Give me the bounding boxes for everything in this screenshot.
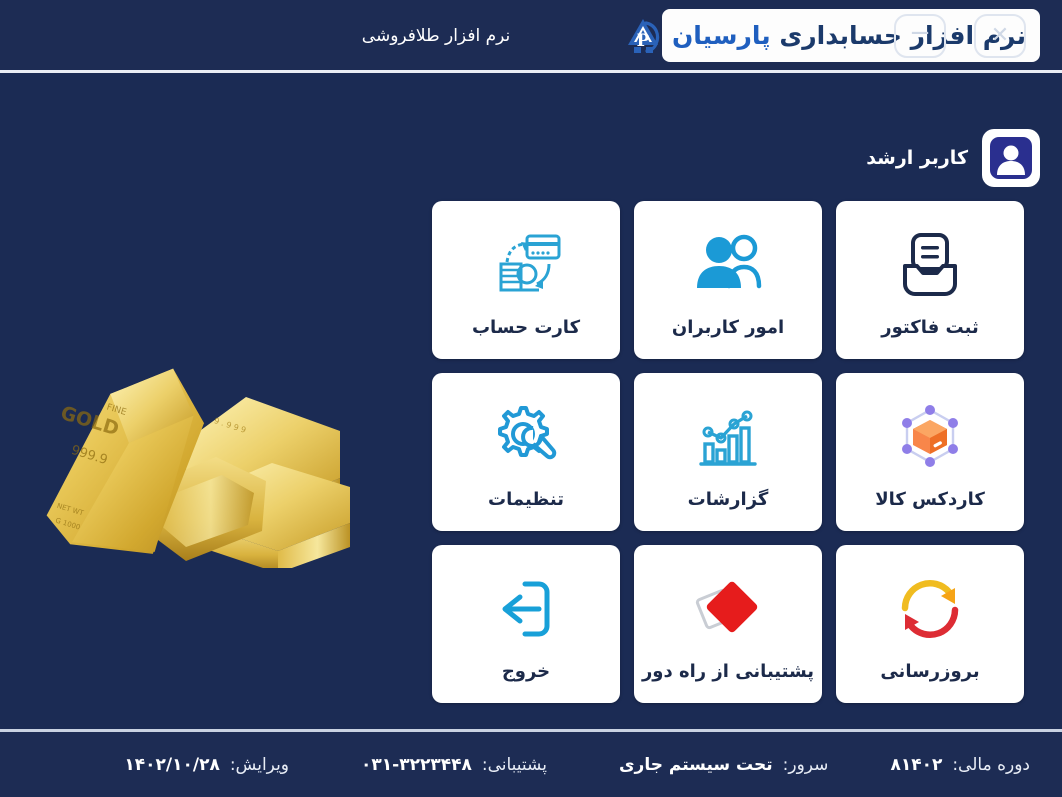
tile-label: گزارشات (688, 489, 769, 510)
tile-register-invoice[interactable]: ثبت فاکتور (836, 201, 1024, 359)
tile-label: بروزرسانی (880, 661, 979, 682)
tile-label: خروج (502, 661, 550, 682)
user-name: کاربر ارشد (866, 147, 968, 169)
tile-label: پشتیبانی از راه دور (642, 661, 814, 682)
close-button[interactable]: ✕ (974, 14, 1026, 58)
gold-bars-image: 9 9 9 . 9 FINE GOLD 999.9 NET WT 1000 G (10, 323, 350, 568)
anydesk-remote-icon (689, 567, 767, 651)
status-fiscal-period-value: ۸۱۴۰۲ (890, 755, 942, 775)
tile-label: تنظیمات (488, 489, 564, 510)
status-support: پشتیبانی: ۰۳۱-۳۲۲۳۴۴۸ (361, 755, 547, 775)
refresh-circular-arrows-icon (891, 567, 969, 651)
status-server-label: سرور: (783, 755, 829, 775)
status-version-value: ۱۴۰۲/۱۰/۲۸ (124, 755, 219, 775)
status-server: سرور: تحت سیستم جاری (619, 755, 828, 775)
main-stage: 9 9 9 . 9 FINE GOLD 999.9 NET WT 1000 G (0, 73, 1062, 730)
tile-label: کارت حساب (472, 317, 580, 338)
brand-logo-text: نرم افزار حسابداری پارسیان (672, 23, 1026, 48)
minimize-button[interactable]: − (894, 14, 946, 58)
user-chip[interactable]: کاربر ارشد (866, 129, 1040, 187)
tile-label: ثبت فاکتور (881, 317, 978, 338)
status-bar: دوره مالی: ۸۱۴۰۲ سرور: تحت سیستم جاری پش… (0, 732, 1062, 797)
tile-account-card[interactable]: کارت حساب (432, 201, 620, 359)
status-server-value: تحت سیستم جاری (619, 755, 773, 775)
tile-update[interactable]: بروزرسانی (836, 545, 1024, 703)
tile-remote-support[interactable]: پشتیبانی از راه دور (634, 545, 822, 703)
parsian-pyramid-logo-icon: P (620, 13, 666, 59)
orange-cube-network-icon (891, 395, 969, 479)
tile-settings[interactable]: تنظیمات (432, 373, 620, 531)
status-version: ویرایش: ۱۴۰۲/۱۰/۲۸ (124, 755, 289, 775)
bar-chart-trend-icon (689, 395, 767, 479)
minimize-icon: − (909, 20, 931, 46)
tile-label: امور کاربران (672, 317, 784, 338)
tile-user-affairs[interactable]: امور کاربران (634, 201, 822, 359)
brand-logo-text-accent: پارسیان (672, 21, 771, 50)
window-title-text: نرم افزار طلافروشی (362, 26, 510, 46)
tile-goods-kardex[interactable]: کاردکس کالا (836, 373, 1024, 531)
user-avatar-icon (988, 135, 1034, 181)
main-menu-grid: ثبت فاکتور امور کاربران (430, 201, 1024, 703)
inbox-document-icon (891, 223, 969, 307)
tile-exit[interactable]: خروج (432, 545, 620, 703)
status-fiscal-period-label: دوره مالی: (952, 755, 1030, 775)
tile-reports[interactable]: گزارشات (634, 373, 822, 531)
card-coins-exchange-icon (487, 223, 565, 307)
status-support-value: ۰۳۱-۳۲۲۳۴۴۸ (361, 755, 472, 775)
gear-wrench-icon (487, 395, 565, 479)
logout-arrow-icon (487, 567, 565, 651)
close-icon: ✕ (991, 25, 1009, 47)
title-bar: نرم افزار حسابداری پارسیان P نرم افزار ط… (0, 0, 1062, 72)
svg-text:P: P (637, 31, 650, 51)
status-fiscal-period: دوره مالی: ۸۱۴۰۲ (890, 755, 1030, 775)
avatar[interactable] (982, 129, 1040, 187)
users-icon (689, 223, 767, 307)
status-version-label: ویرایش: (230, 755, 289, 775)
status-support-label: پشتیبانی: (482, 755, 547, 775)
tile-label: کاردکس کالا (875, 489, 985, 510)
